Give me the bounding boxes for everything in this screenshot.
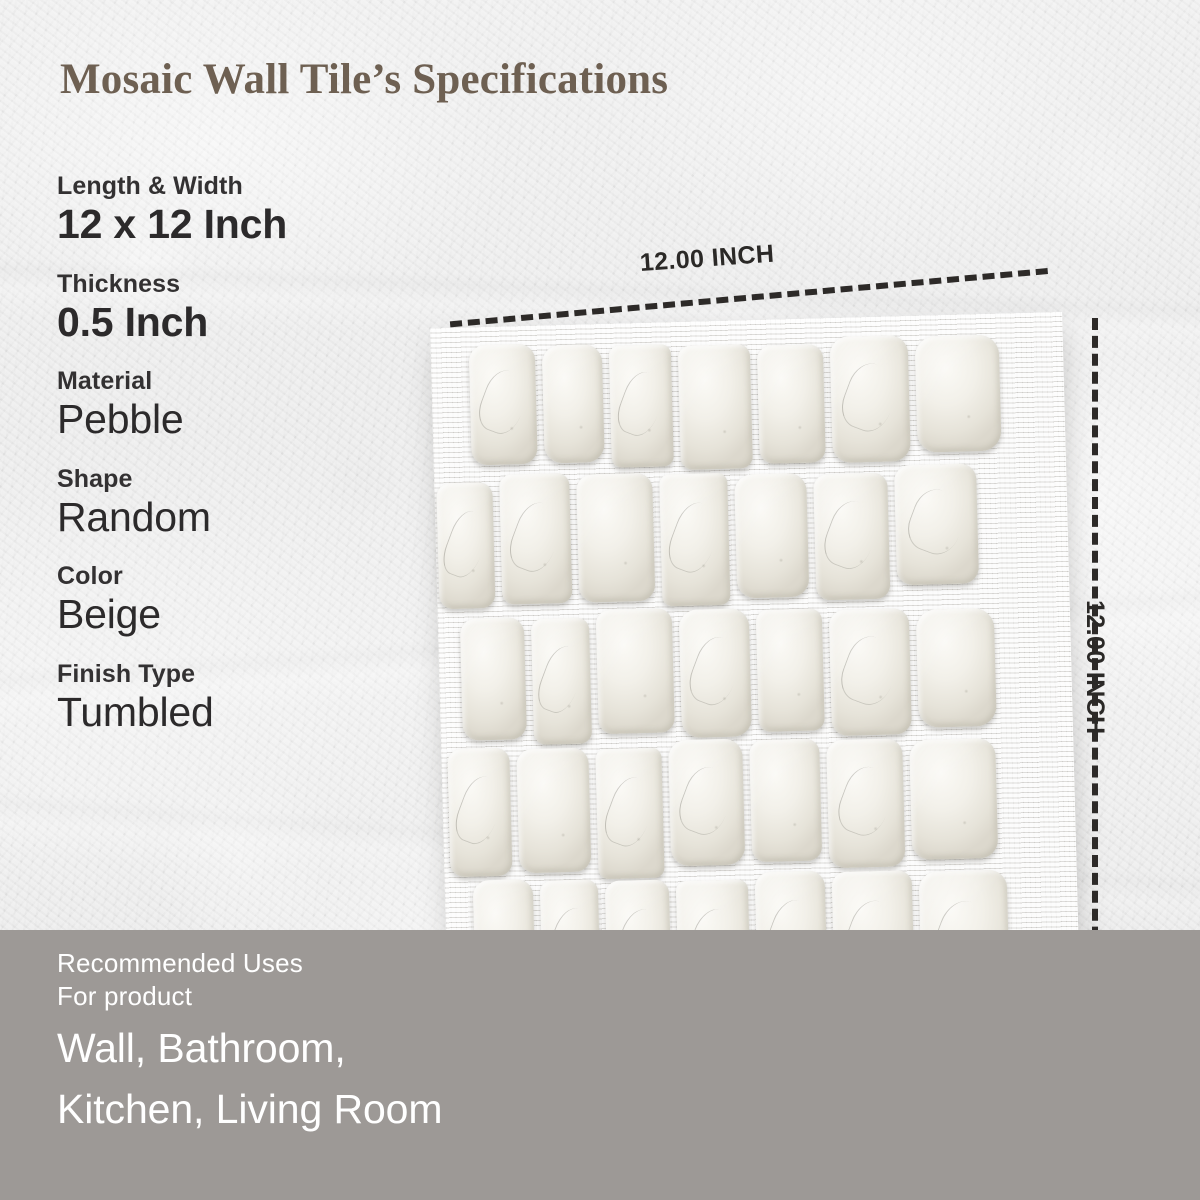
spec-group-color: Color Beige [57, 562, 457, 639]
spec-value: Random [57, 494, 457, 542]
infographic-page: Mosaic Wall Tile’s Specifications Length… [0, 0, 1200, 1200]
pebble-tile [678, 344, 753, 470]
pebble-tile [596, 608, 675, 734]
uses-label-line2: For product [57, 980, 677, 1013]
dimension-label-height: 12.00 INCH [1080, 600, 1109, 735]
pebble-tile [813, 473, 890, 601]
uses-value-line2: Kitchen, Living Room [57, 1082, 677, 1136]
uses-value-line1: Wall, Bathroom, [57, 1021, 677, 1075]
spec-label: Material [57, 367, 457, 395]
spec-label: Length & Width [57, 172, 457, 200]
pebble-tile [826, 738, 905, 868]
spec-value: Beige [57, 591, 457, 639]
spec-group-length-width: Length & Width 12 x 12 Inch [57, 172, 457, 249]
pebble-tile [734, 473, 809, 599]
pebble-tile [542, 344, 605, 464]
pebble-tile [909, 738, 998, 860]
pebble-tile [916, 608, 997, 728]
pebble-tile [609, 344, 674, 468]
pebble-tile [531, 617, 592, 744]
pebble-row [431, 329, 1104, 476]
pebble-tile [679, 608, 752, 738]
uses-label-line1: Recommended Uses [57, 947, 677, 980]
pebble-tile [915, 335, 1002, 453]
page-title: Mosaic Wall Tile’s Specifications [60, 55, 668, 104]
pebble-tile [576, 473, 655, 603]
pebble-mosaic-tile-image [430, 312, 1080, 1028]
pebble-tile [469, 344, 538, 466]
spec-label: Color [57, 562, 457, 590]
spec-value: 12 x 12 Inch [57, 201, 457, 249]
pebble-tile [749, 739, 822, 863]
spec-group-finish-type: Finish Type Tumbled [57, 660, 457, 737]
spec-label: Thickness [57, 270, 457, 298]
pebble-tile [595, 748, 664, 880]
pebble-tile [829, 608, 912, 736]
pebble-tile [757, 344, 826, 464]
spec-value: Tumbled [57, 689, 457, 737]
pebble-tile [756, 608, 825, 732]
pebble-tile [659, 473, 730, 607]
spec-value: Pebble [57, 396, 457, 444]
recommended-uses-text: Recommended Uses For product Wall, Bathr… [57, 947, 677, 1136]
pebble-tile [830, 335, 911, 463]
pebble-tile [436, 482, 495, 609]
pebble-tile [516, 748, 591, 874]
specification-list: Length & Width 12 x 12 Inch Thickness 0.… [57, 172, 457, 757]
spec-label: Finish Type [57, 660, 457, 688]
spec-group-material: Material Pebble [57, 367, 457, 444]
pebble-tile [447, 748, 512, 878]
spec-label: Shape [57, 465, 457, 493]
pebble-tile [460, 617, 527, 741]
pebble-tile [894, 463, 979, 585]
spec-group-shape: Shape Random [57, 465, 457, 542]
pebble-row [441, 730, 1082, 884]
pebble-row [438, 597, 1095, 747]
pebble-row [434, 460, 1071, 613]
pebble-tile [499, 473, 572, 605]
spec-group-thickness: Thickness 0.5 Inch [57, 270, 457, 347]
pebble-tile [668, 739, 745, 867]
spec-value: 0.5 Inch [57, 299, 457, 347]
